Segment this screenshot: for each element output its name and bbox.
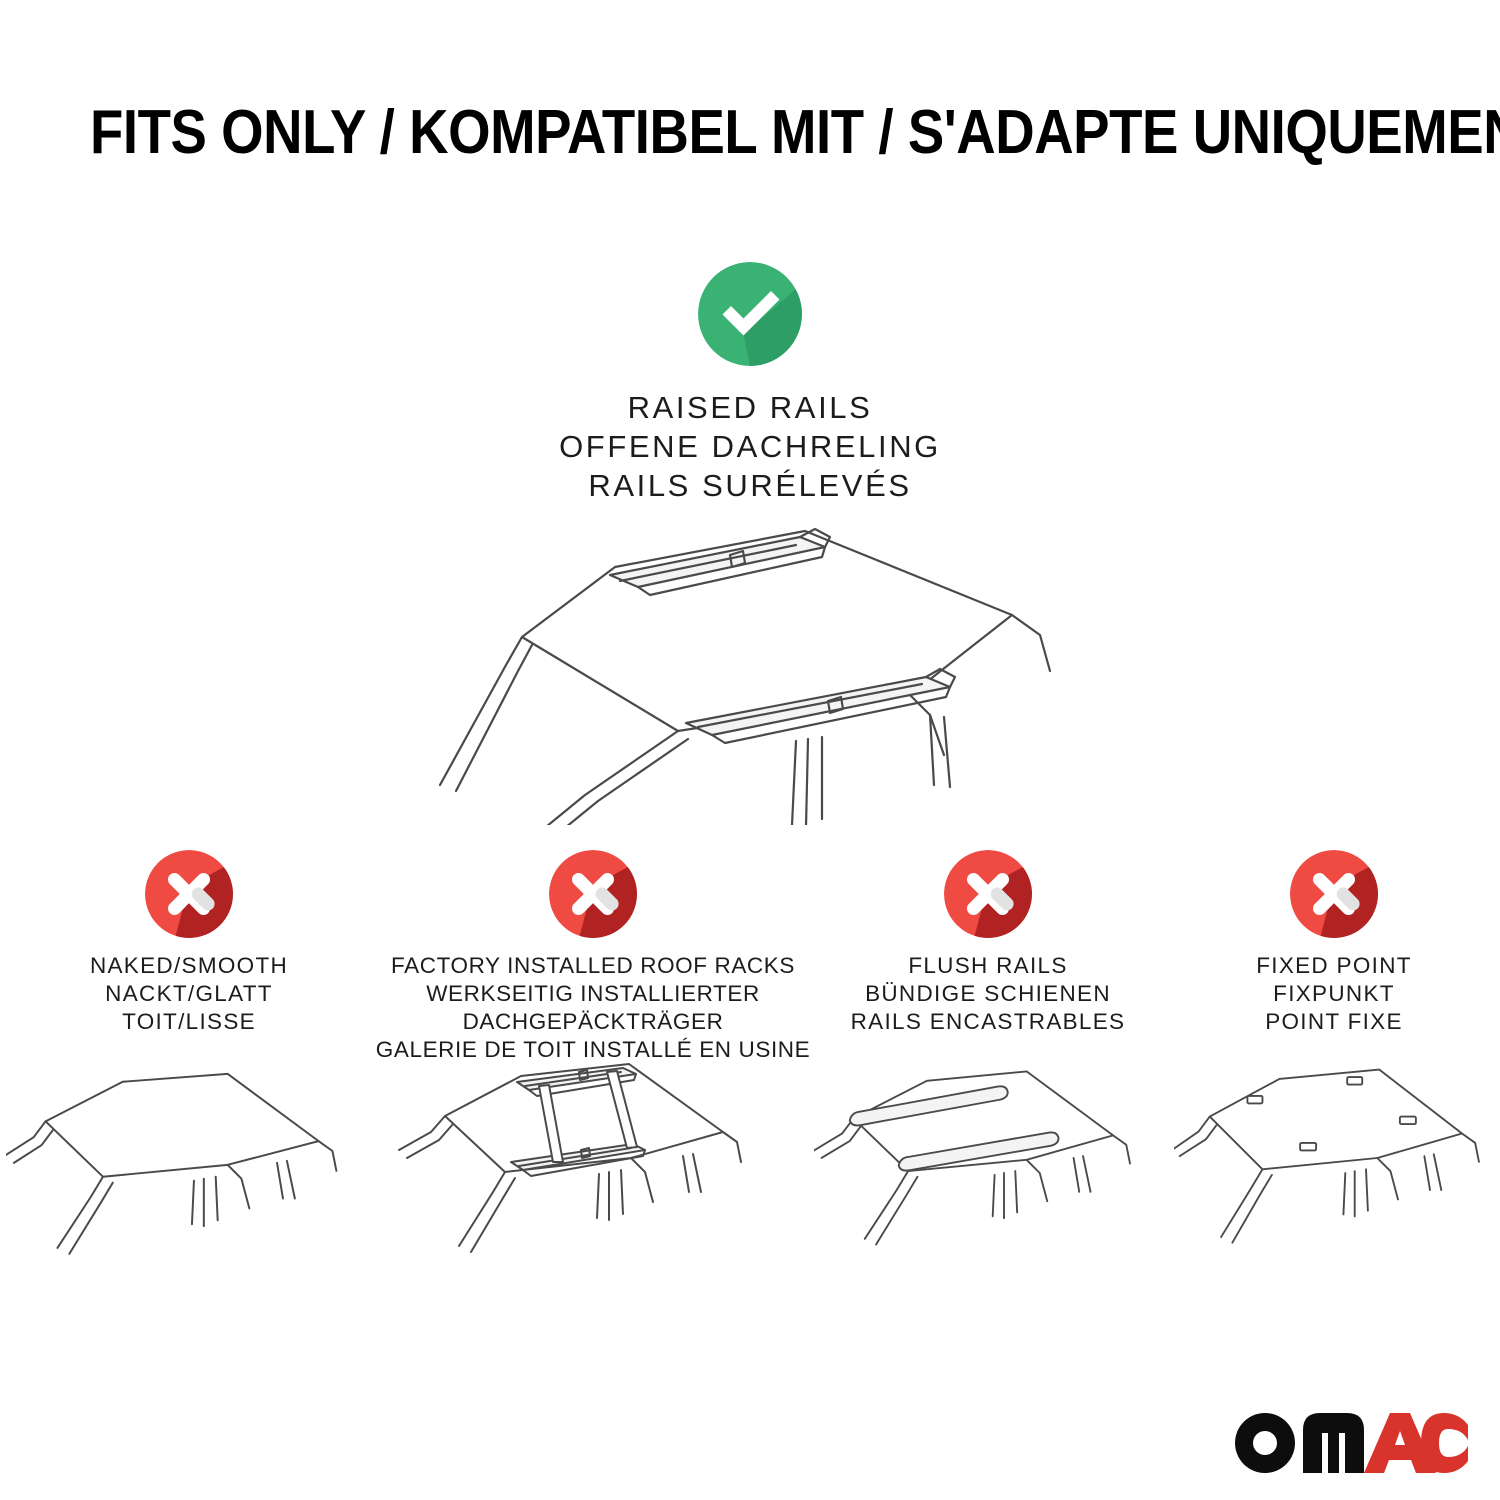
compatible-block: RAISED RAILS OFFENE DACHRELING RAILS SUR… (0, 262, 1500, 505)
label-line-1: NAKED/SMOOTH (90, 952, 288, 980)
label-line-2: WERKSEITIG INSTALLIERTER (376, 980, 811, 1008)
incompatible-label: FLUSH RAILS BÜNDIGE SCHIENEN RAILS ENCAS… (851, 952, 1126, 1036)
car-roof-naked-illustration (6, 1060, 372, 1290)
car-roof-raised-rails-illustration (410, 495, 1090, 825)
label-line-1: FLUSH RAILS (851, 952, 1126, 980)
label-line-1: FIXED POINT (1256, 952, 1412, 980)
incompatible-item-factory-roof-racks: FACTORY INSTALLED ROOF RACKS WERKSEITIG … (378, 850, 808, 1288)
incompatible-label: NAKED/SMOOTH NACKT/GLATT TOIT/LISSE (90, 952, 288, 1036)
car-roof-factory-rack-illustration (384, 1058, 802, 1288)
logo-omac-mark (1235, 1413, 1468, 1473)
label-line-3: RAILS ENCASTRABLES (851, 1008, 1126, 1036)
label-line-2: NACKT/GLATT (90, 980, 288, 1008)
label-line-2: FIXPUNKT (1256, 980, 1412, 1008)
page-title: FITS ONLY / KOMPATIBEL MIT / S'ADAPTE UN… (90, 98, 1410, 168)
cross-circle-icon (549, 850, 637, 938)
incompatible-label: FIXED POINT FIXPUNKT POINT FIXE (1256, 952, 1412, 1036)
incompatible-item-naked-smooth: NAKED/SMOOTH NACKT/GLATT TOIT/LISSE (0, 850, 378, 1290)
cross-circle-icon (145, 850, 233, 938)
label-line-1: FACTORY INSTALLED ROOF RACKS (376, 952, 811, 980)
label-line-3: TOIT/LISSE (90, 1008, 288, 1036)
check-circle-svg (698, 262, 802, 366)
label-line-3: POINT FIXE (1256, 1008, 1412, 1036)
omac-logo (1233, 1412, 1468, 1474)
cross-circle-icon (944, 850, 1032, 938)
compatible-label-line-2: OFFENE DACHRELING (559, 427, 941, 466)
compatible-label: RAISED RAILS OFFENE DACHRELING RAILS SUR… (559, 388, 941, 505)
incompatible-item-flush-rails: FLUSH RAILS BÜNDIGE SCHIENEN RAILS ENCAS… (808, 850, 1168, 1292)
car-roof-flush-rails-illustration (814, 1062, 1162, 1292)
label-line-3: DACHGEPÄCKTRÄGER (376, 1008, 811, 1036)
incompatible-item-fixed-point: FIXED POINT FIXPUNKT POINT FIXE (1168, 850, 1500, 1292)
cross-circle-icon (1290, 850, 1378, 938)
check-circle-icon (698, 262, 802, 366)
incompatible-label: FACTORY INSTALLED ROOF RACKS WERKSEITIG … (376, 952, 811, 1064)
compatible-label-line-1: RAISED RAILS (559, 388, 941, 427)
page-header: FITS ONLY / KOMPATIBEL MIT / S'ADAPTE UN… (0, 98, 1500, 168)
label-line-2: BÜNDIGE SCHIENEN (851, 980, 1126, 1008)
car-roof-fixed-point-illustration (1174, 1062, 1494, 1292)
incompatible-row: NAKED/SMOOTH NACKT/GLATT TOIT/LISSE (0, 850, 1500, 1292)
